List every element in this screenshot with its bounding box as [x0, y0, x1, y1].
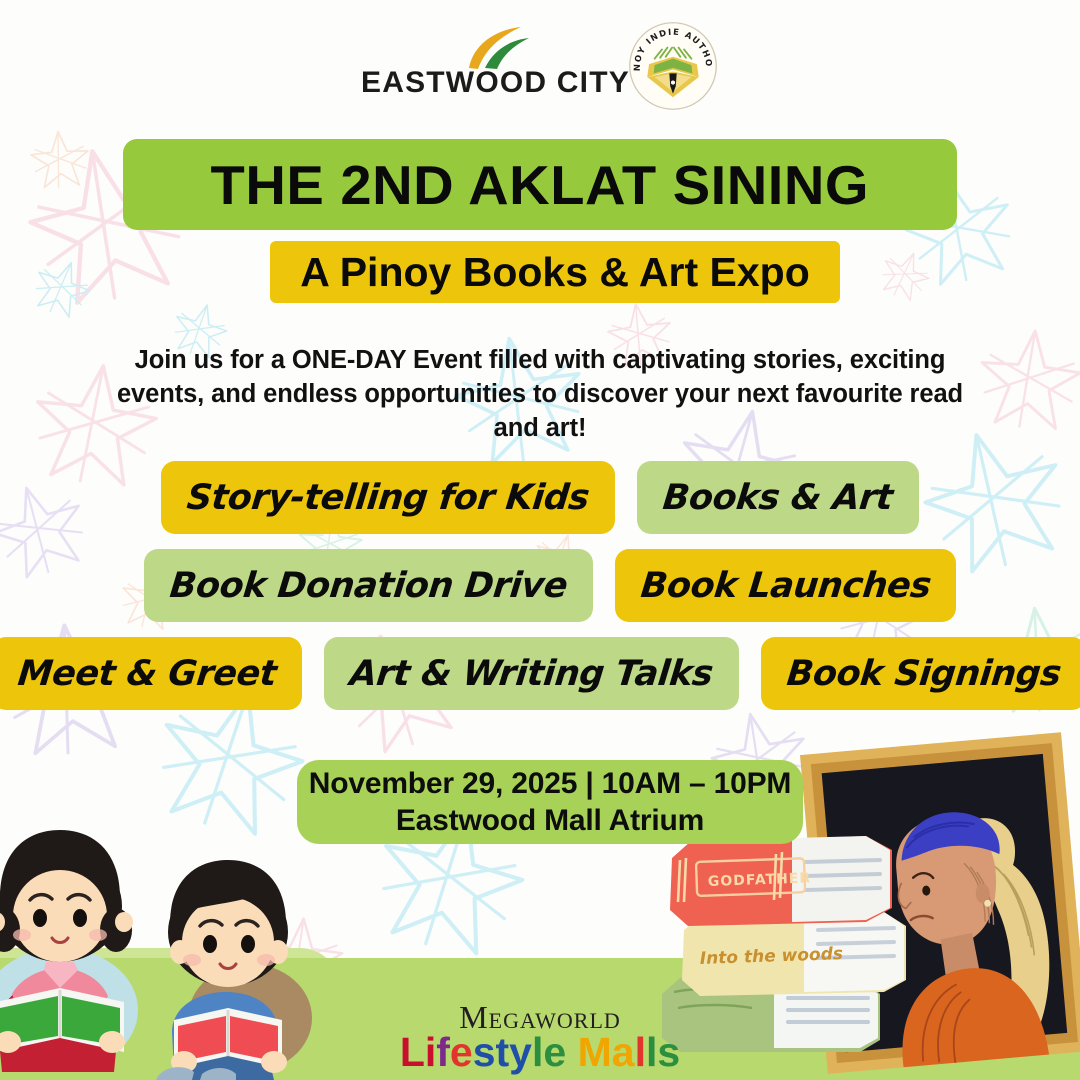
lm-part: l: [532, 1029, 543, 1075]
page-title: THE 2ND AKLAT SINING: [211, 153, 869, 217]
lm-part: l: [635, 1029, 646, 1075]
activity-pill-books-and-art[interactable]: Books & Art: [637, 461, 918, 534]
open-book-pen-nib-icon: PINOY INDIE AUTHORS: [627, 20, 719, 112]
header-logos: EASTWOOD CITY PINOY INDIE AUTHORS: [0, 16, 1080, 116]
event-venue: Eastwood Mall Atrium: [396, 804, 704, 838]
activity-pill-label: Books & Art: [661, 478, 895, 518]
poster-canvas: EASTWOOD CITY PINOY INDIE AUTHORS: [0, 0, 1080, 1080]
activity-pill-label: Book Launches: [639, 566, 933, 606]
page-subtitle: A Pinoy Books & Art Expo: [300, 249, 810, 296]
activity-pill-list: Story-telling for Kids Books & Art Book …: [0, 461, 1080, 725]
activity-pill-meet-and-greet[interactable]: Meet & Greet: [0, 637, 302, 710]
event-details-band: November 29, 2025 | 10AM – 10PM Eastwood…: [297, 760, 803, 844]
activity-pill-row: Book Donation Drive Book Launches: [20, 549, 1080, 622]
activity-pill-label: Story-telling for Kids: [185, 478, 591, 518]
pinoy-indie-authors-logo: PINOY INDIE AUTHORS: [627, 20, 719, 112]
main-title-band: THE 2ND AKLAT SINING: [123, 139, 957, 230]
activity-pill-label: Meet & Greet: [16, 654, 278, 694]
activity-pill-label: Book Signings: [784, 654, 1062, 694]
activity-pill-row: Story-telling for Kids Books & Art: [0, 461, 1080, 534]
lm-part: e: [450, 1029, 473, 1075]
eastwood-city-wordmark: EASTWOOD CITY: [361, 66, 601, 100]
megaworld-lifestyle-malls-logo: Megaworld Lifestyle Malls: [0, 1001, 1080, 1074]
lifestyle-malls-wordmark: Lifestyle Malls: [0, 1031, 1080, 1074]
activity-pill-book-launches[interactable]: Book Launches: [615, 549, 957, 622]
lm-part: Li: [400, 1029, 436, 1075]
activity-pill-story-telling-for-kids[interactable]: Story-telling for Kids: [161, 461, 615, 534]
activity-pill-book-donation-drive[interactable]: Book Donation Drive: [144, 549, 593, 622]
activity-pill-label: Book Donation Drive: [167, 566, 568, 606]
subtitle-band: A Pinoy Books & Art Expo: [270, 241, 840, 303]
activity-pill-art-and-writing-talks[interactable]: Art & Writing Talks: [324, 637, 739, 710]
activity-pill-book-signings[interactable]: Book Signings: [761, 637, 1080, 710]
activity-pill-row: Meet & Greet Art & Writing Talks Book Si…: [0, 637, 1080, 710]
activity-pill-label: Art & Writing Talks: [348, 654, 715, 694]
event-description: Join us for a ONE-DAY Event filled with …: [100, 344, 980, 446]
lm-part: sty: [473, 1029, 532, 1075]
lm-part: f: [436, 1029, 450, 1075]
event-date-time: November 29, 2025 | 10AM – 10PM: [309, 767, 791, 801]
eastwood-city-logo: EASTWOOD CITY: [361, 24, 601, 108]
lm-part: e: [543, 1029, 566, 1075]
lm-part: Ma: [566, 1029, 634, 1075]
lm-part: ls: [646, 1029, 680, 1075]
